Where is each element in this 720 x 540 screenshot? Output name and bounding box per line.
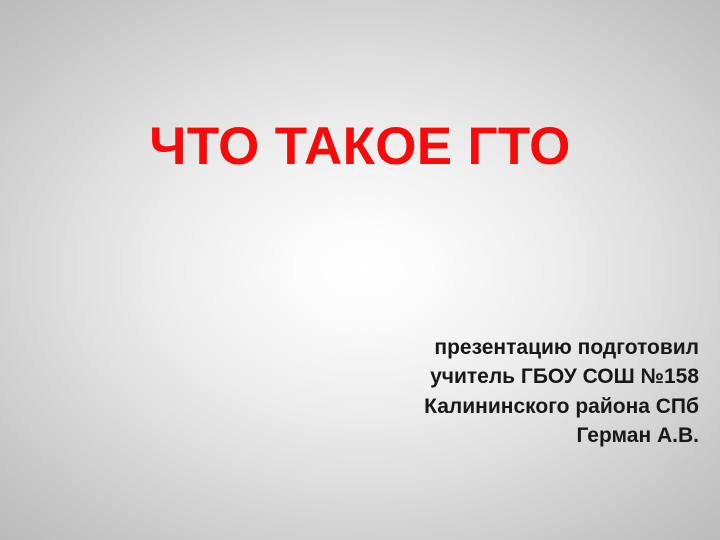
presentation-slide: ЧТО ТАКОЕ ГТО презентацию подготовил учи…	[0, 0, 720, 540]
page-title: ЧТО ТАКОЕ ГТО	[60, 118, 660, 175]
subtitle-line: Герман А.В.	[239, 421, 699, 450]
title-placeholder[interactable]: ЧТО ТАКОЕ ГТО	[60, 118, 660, 175]
subtitle-line: Калининского района СПб	[239, 392, 699, 421]
subtitle-placeholder[interactable]: презентацию подготовил учитель ГБОУ СОШ …	[239, 333, 699, 450]
subtitle-line: учитель ГБОУ СОШ №158	[239, 362, 699, 391]
subtitle-line: презентацию подготовил	[239, 333, 699, 362]
